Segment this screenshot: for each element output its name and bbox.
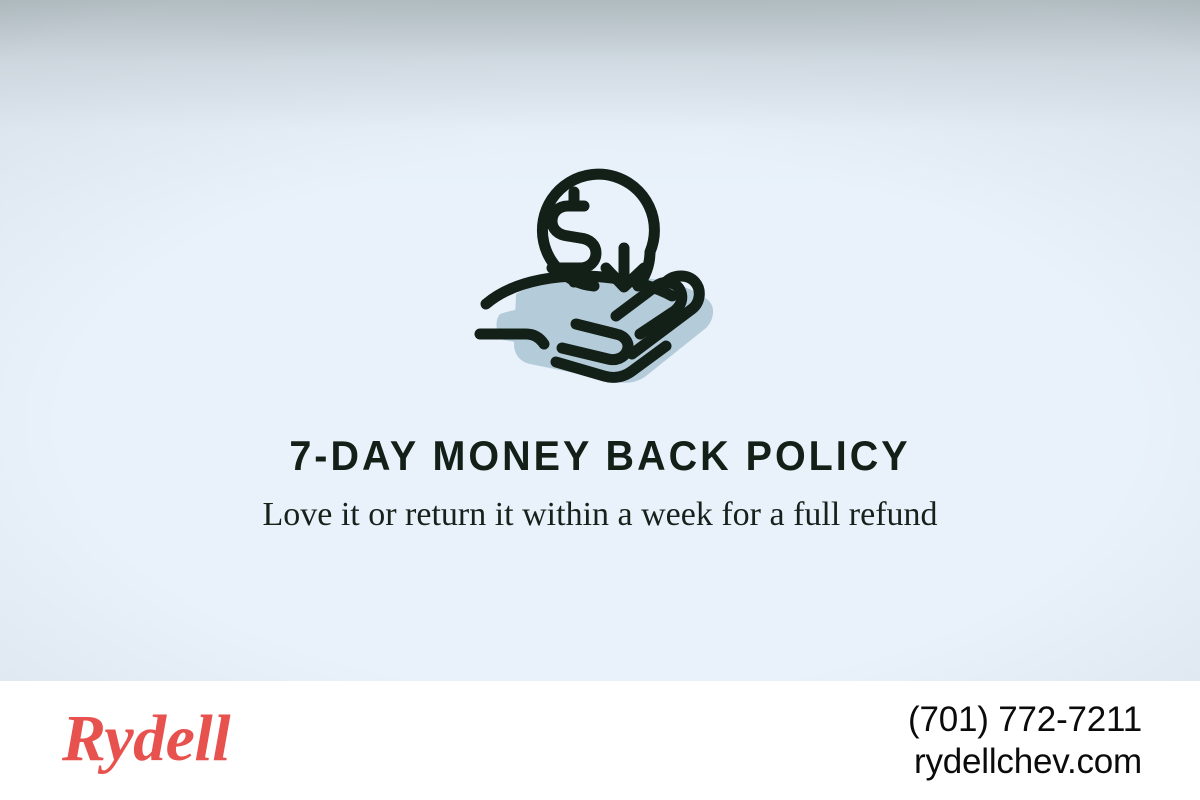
hero-panel: 7-DAY MONEY BACK POLICY Love it or retur… — [0, 0, 1200, 681]
footer-bar: Rydell (701) 772-7211 rydellchev.com — [0, 681, 1200, 800]
website-url[interactable]: rydellchev.com — [908, 741, 1142, 783]
subtitle-text: Love it or return it within a week for a… — [250, 492, 950, 537]
dollar-sign-icon — [552, 192, 596, 282]
phone-number[interactable]: (701) 772-7211 — [908, 699, 1142, 741]
contact-block: (701) 772-7211 rydellchev.com — [908, 699, 1142, 783]
page-title: 7-DAY MONEY BACK POLICY — [36, 432, 1164, 480]
rydell-logo[interactable]: Rydell — [62, 706, 230, 772]
promo-card: 7-DAY MONEY BACK POLICY Love it or retur… — [0, 0, 1200, 800]
money-back-hand-icon — [470, 148, 730, 388]
icon-container — [0, 148, 1200, 388]
